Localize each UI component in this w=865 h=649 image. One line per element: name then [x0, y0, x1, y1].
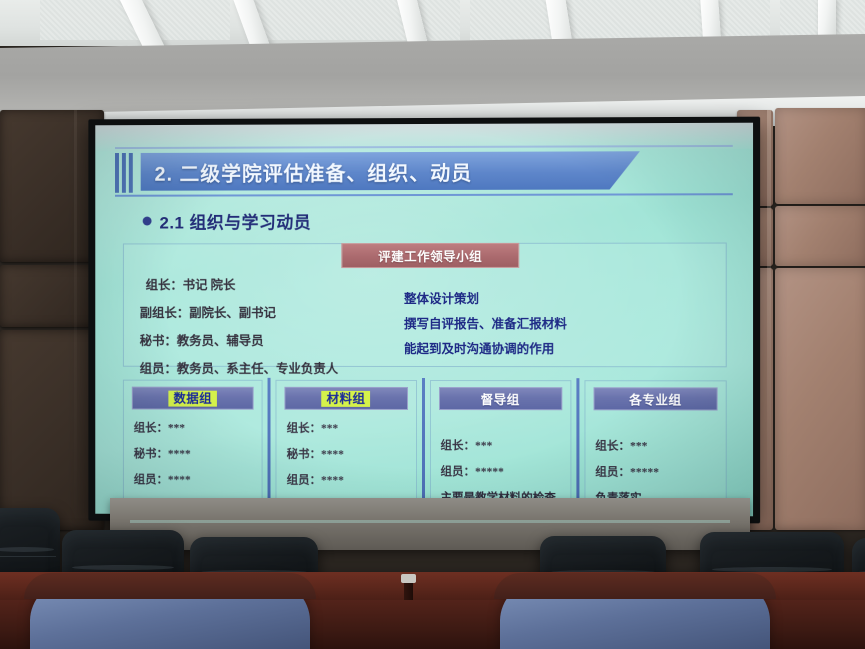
- group-divider: [263, 380, 276, 508]
- duty-line: 撰写自评报告、准备汇报材料: [404, 313, 567, 332]
- page-title: 2. 二级学院评估准备、组织、动员: [141, 156, 473, 186]
- foreground-chair: [500, 581, 770, 649]
- group-line: 组员：*****: [595, 463, 715, 479]
- group-line: 组员：*****: [440, 463, 560, 479]
- group-header: 数据组: [132, 387, 254, 410]
- leading-group-title: 评建工作领导小组: [378, 246, 482, 265]
- group-line: 秘书：****: [287, 446, 406, 462]
- group-title: 各专业组: [629, 389, 681, 408]
- projection-screen: 2. 二级学院评估准备、组织、动员 2.1 组织与学习动员 评建工作领导小组 组…: [88, 117, 760, 524]
- group-header: 材料组: [285, 387, 408, 410]
- working-groups: 数据组 组长：*** 秘书：**** 组员：**** 非常重要，需要及时准确的数…: [123, 380, 727, 510]
- group-title: 督导组: [481, 389, 520, 408]
- group-header: 各专业组: [593, 387, 717, 410]
- group-line: 组员：****: [287, 472, 406, 488]
- group-title: 材料组: [322, 390, 371, 406]
- group-line: 组员：****: [134, 471, 252, 487]
- group-header: 督导组: [438, 387, 562, 410]
- ceiling-beam: [818, 0, 836, 38]
- group-box-supervision: 督导组 组长：*** 组员：***** 主要是教学材料的检查: [429, 380, 571, 509]
- slide-title-banner: 2. 二级学院评估准备、组织、动员: [115, 149, 733, 195]
- roster-line: 副组长：副院长、副书记: [140, 302, 388, 321]
- duty-line: 能起到及时沟通协调的作用: [404, 338, 567, 357]
- foreground-chair: [30, 581, 310, 649]
- slide-subtitle: 2.1 组织与学习动员: [143, 207, 739, 233]
- leading-group-box: 评建工作领导小组 组长：书记 院长 副组长：副院长、副书记 秘书：教务员、辅导员…: [123, 243, 727, 368]
- conference-room-scene: 2. 二级学院评估准备、组织、动员 2.1 组织与学习动员 评建工作领导小组 组…: [0, 0, 865, 649]
- roster-line: 组长：书记 院长: [140, 274, 388, 293]
- title-accent-bars: [115, 153, 137, 193]
- group-box-data: 数据组 组长：*** 秘书：**** 组员：**** 非常重要，需要及时准确的数…: [123, 380, 263, 508]
- roster-line: 组员：教务员、系主任、专业负责人: [140, 358, 388, 377]
- group-line: 组长：***: [287, 420, 406, 436]
- group-title: 数据组: [168, 390, 217, 406]
- subtitle-label: 2.1 组织与学习动员: [159, 208, 311, 233]
- leading-group-roster: 组长：书记 院长 副组长：副院长、副书记 秘书：教务员、辅导员 组员：教务员、系…: [140, 274, 388, 386]
- group-line: 组长：***: [595, 437, 715, 453]
- group-divider: [417, 380, 430, 508]
- roster-line: 秘书：教务员、辅导员: [140, 330, 388, 349]
- group-line: 组长：***: [440, 437, 560, 453]
- desk-clip: [401, 574, 416, 583]
- group-line: 组长：***: [134, 419, 252, 435]
- bullet-icon: [143, 217, 152, 226]
- group-line: 秘书：****: [134, 445, 252, 461]
- leading-group-header: 评建工作领导小组: [341, 243, 519, 268]
- duty-line: 整体设计策划: [404, 288, 567, 307]
- presentation-slide: 2. 二级学院评估准备、组织、动员 2.1 组织与学习动员 评建工作领导小组 组…: [95, 123, 753, 517]
- group-box-material: 材料组 组长：*** 秘书：**** 组员：**** 非常重要，在线上调研阶段提…: [276, 380, 417, 508]
- leading-group-duties: 整体设计策划 撰写自评报告、准备汇报材料 能起到及时沟通协调的作用: [404, 288, 567, 363]
- group-box-majors: 各专业组 组长：*** 组员：***** 负责落实: [584, 380, 727, 509]
- group-divider: [571, 380, 584, 508]
